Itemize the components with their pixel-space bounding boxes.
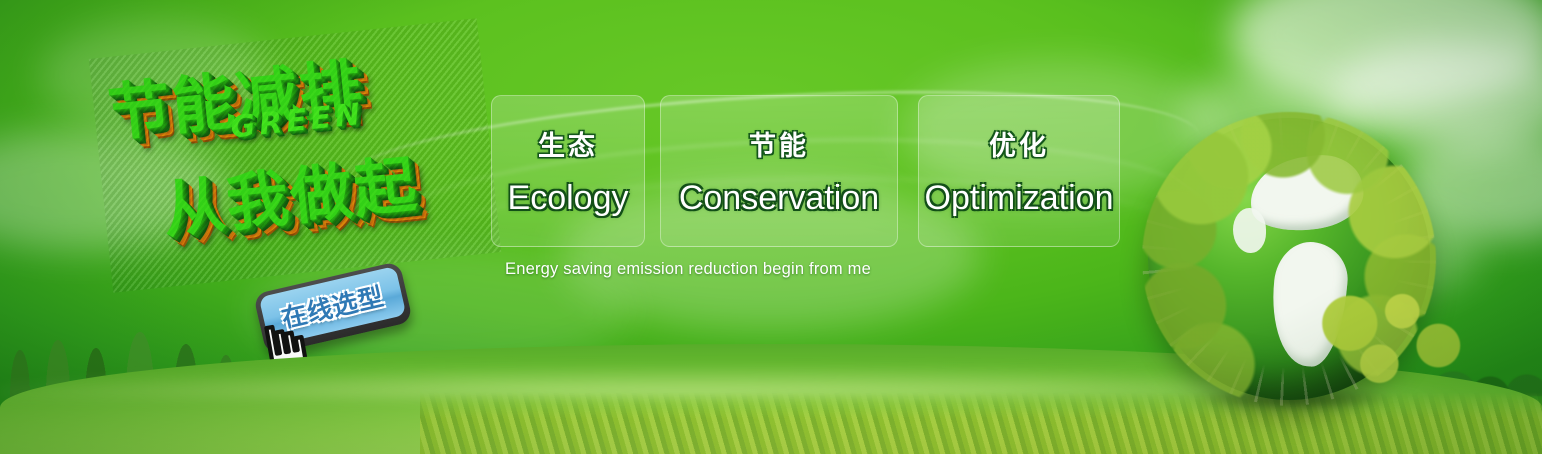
green-vine-globe-icon	[1148, 118, 1430, 400]
green-energy-banner: 节能减排 GREEN 从我做起 生态 Ecology 节能 Conservati…	[0, 0, 1542, 454]
feature-card-title-en: Conservation	[679, 179, 879, 218]
feature-card-title-en: Optimization	[925, 179, 1114, 218]
feature-card-title-cn: 优化	[989, 124, 1049, 163]
continent-greenland	[1233, 208, 1267, 253]
feature-card-title-en: Ecology	[508, 179, 629, 218]
feature-card-conservation[interactable]: 节能 Conservation	[660, 95, 898, 247]
feature-card-ecology[interactable]: 生态 Ecology	[491, 95, 645, 247]
feature-card-title-cn: 生态	[538, 124, 598, 163]
feature-card-title-cn: 节能	[749, 124, 809, 163]
feature-card-optimization[interactable]: 优化 Optimization	[918, 95, 1120, 247]
globe-sphere	[1148, 118, 1430, 400]
headline-3d: 节能减排 GREEN 从我做起	[89, 18, 501, 292]
banner-tagline: Energy saving emission reduction begin f…	[505, 260, 871, 279]
continent-shadow-patch	[1148, 118, 1183, 141]
headline-line-bottom: 从我做起	[158, 134, 422, 250]
cloud-icon	[1230, 0, 1542, 110]
continent-south-america	[1266, 239, 1352, 370]
